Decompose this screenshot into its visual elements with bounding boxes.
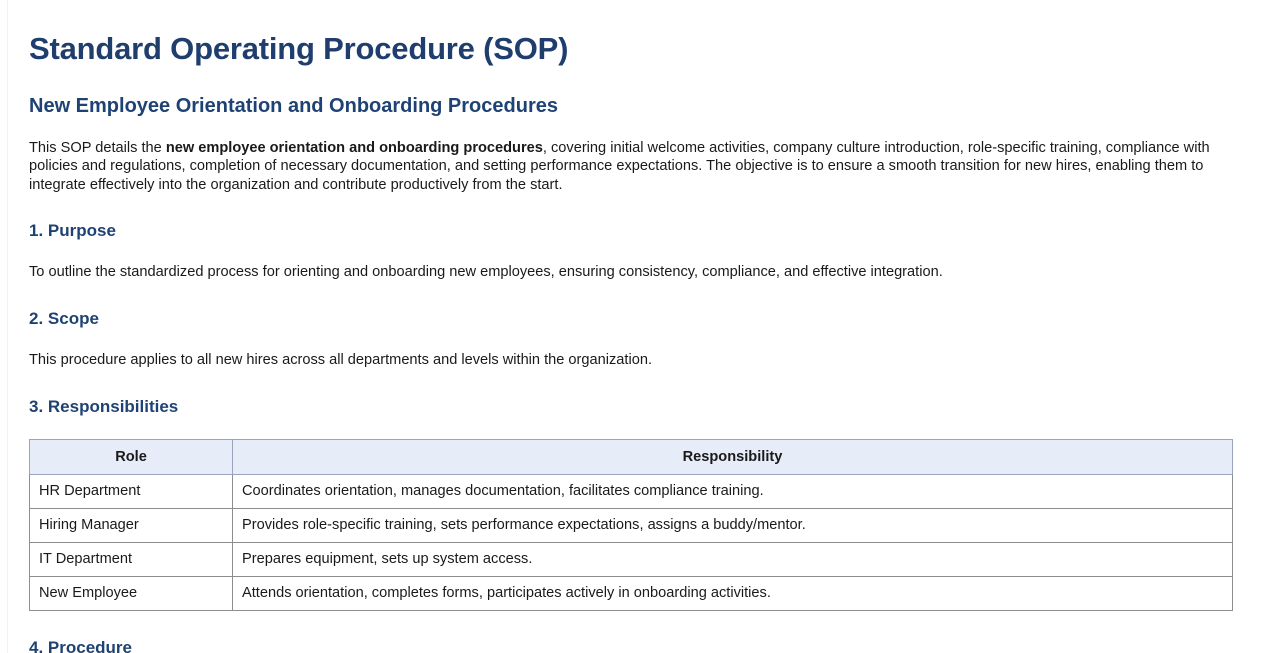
column-header-role: Role	[30, 439, 233, 474]
section-heading-scope: 2. Scope	[29, 281, 1234, 329]
section-heading-procedure: 4. Procedure	[29, 611, 1234, 653]
section-heading-purpose: 1. Purpose	[29, 194, 1234, 241]
table-row: Hiring Manager Provides role-specific tr…	[30, 508, 1233, 542]
page-title: Standard Operating Procedure (SOP)	[29, 0, 1234, 67]
cell-responsibility: Coordinates orientation, manages documen…	[233, 474, 1233, 508]
cell-responsibility: Attends orientation, completes forms, pa…	[233, 576, 1233, 610]
intro-text-before-bold: This SOP details the	[29, 140, 166, 156]
cell-responsibility: Provides role-specific training, sets pe…	[233, 508, 1233, 542]
document-content: Standard Operating Procedure (SOP) New E…	[29, 0, 1234, 653]
section-text-purpose: To outline the standardized process for …	[29, 242, 1234, 282]
cell-role: New Employee	[30, 576, 233, 610]
page-left-edge-rule	[7, 0, 8, 653]
table-header-row: Role Responsibility	[30, 439, 1233, 474]
cell-role: Hiring Manager	[30, 508, 233, 542]
intro-emphasis: new employee orientation and onboarding …	[166, 140, 543, 156]
table-row: IT Department Prepares equipment, sets u…	[30, 542, 1233, 576]
cell-role: IT Department	[30, 542, 233, 576]
responsibilities-table: Role Responsibility HR Department Coordi…	[29, 439, 1233, 611]
column-header-responsibility: Responsibility	[233, 439, 1233, 474]
document-subtitle: New Employee Orientation and Onboarding …	[29, 67, 1234, 118]
section-heading-responsibilities: 3. Responsibilities	[29, 369, 1234, 417]
cell-role: HR Department	[30, 474, 233, 508]
cell-responsibility: Prepares equipment, sets up system acces…	[233, 542, 1233, 576]
document-page: Standard Operating Procedure (SOP) New E…	[0, 0, 1263, 653]
table-row: New Employee Attends orientation, comple…	[30, 576, 1233, 610]
table-row: HR Department Coordinates orientation, m…	[30, 474, 1233, 508]
section-text-scope: This procedure applies to all new hires …	[29, 330, 1234, 370]
intro-paragraph: This SOP details the new employee orient…	[29, 118, 1234, 195]
